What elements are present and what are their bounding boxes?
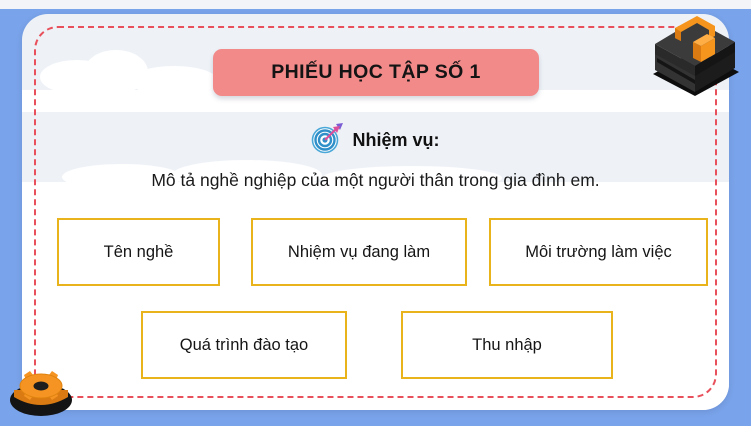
mission-heading: Nhiệm vụ: [0,122,751,159]
answer-box-label: Nhiệm vụ đang làm [288,243,430,262]
task-description: Mô tả nghề nghiệp của một người thân tro… [0,170,751,191]
toolbox-icon [645,2,745,107]
answer-box-label: Quá trình đào tạo [180,336,308,355]
gear-icon [4,358,78,426]
worksheet-title-banner: PHIẾU HỌC TẬP SỐ 1 [213,49,539,96]
answer-box-nhiem-vu-dang-lam[interactable]: Nhiệm vụ đang làm [251,218,467,286]
page-title: PHIẾU HỌC TẬP SỐ 1 [271,61,480,84]
answer-box-ten-nghe[interactable]: Tên nghề [57,218,220,286]
answer-box-label: Thu nhập [472,336,542,355]
answer-box-label: Môi trường làm việc [525,243,672,262]
mission-label: Nhiệm vụ: [352,130,439,151]
answer-box-qua-trinh-dao-tao[interactable]: Quá trình đào tạo [141,311,347,379]
answer-box-moi-truong-lam-viec[interactable]: Môi trường làm việc [489,218,708,286]
worksheet-content: PHIẾU HỌC TẬP SỐ 1 Nhiệm vụ: Mô tả nghề … [0,0,751,426]
answer-box-label: Tên nghề [104,243,174,262]
answer-box-thu-nhap[interactable]: Thu nhập [401,311,613,379]
target-icon [311,122,345,159]
worksheet-stage: PHIẾU HỌC TẬP SỐ 1 Nhiệm vụ: Mô tả nghề … [0,0,751,426]
